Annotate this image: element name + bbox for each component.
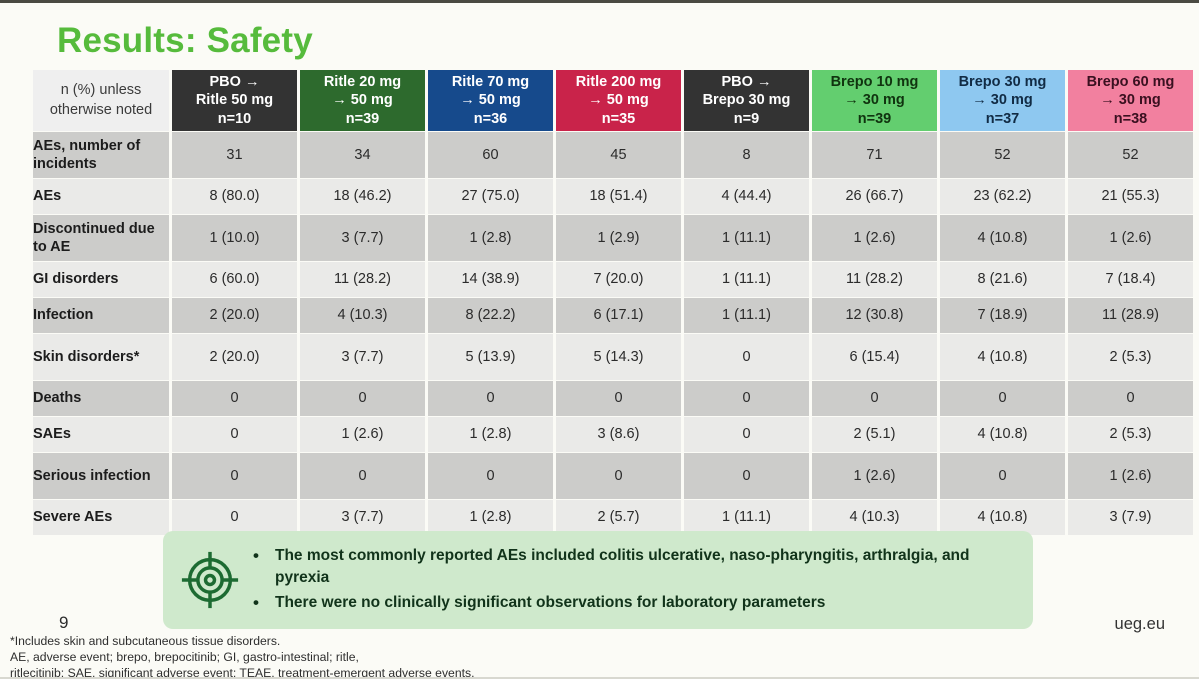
- table-cell: 0: [172, 417, 297, 452]
- table-cell: 0: [684, 381, 809, 416]
- table-cell: 2 (20.0): [172, 298, 297, 333]
- table-cell: 0: [428, 453, 553, 499]
- table-cell: 7 (20.0): [556, 262, 681, 297]
- table-cell: 60: [428, 132, 553, 178]
- column-header-ritle-70: Ritle 70 mg → 50 mg n=36: [428, 70, 553, 131]
- table-cell: 5 (14.3): [556, 334, 681, 380]
- footnote-line-2: AE, adverse event; brepo, brepocitinib; …: [10, 649, 710, 665]
- table-cell: 52: [1068, 132, 1193, 178]
- table-cell: 1 (10.0): [172, 215, 297, 261]
- table-cell: 8: [684, 132, 809, 178]
- table-cell: 0: [812, 381, 937, 416]
- table-cell: 4 (10.8): [940, 334, 1065, 380]
- table-cell: 2 (5.7): [556, 500, 681, 535]
- row-label: SAEs: [33, 417, 169, 452]
- target-icon: [179, 549, 241, 611]
- table-cell: 0: [684, 334, 809, 380]
- table-cell: 3 (7.7): [300, 500, 425, 535]
- table-cell: 1 (11.1): [684, 262, 809, 297]
- table-cell: 0: [940, 381, 1065, 416]
- table-cell: 0: [172, 453, 297, 499]
- table-row: Discontinued due to AE1 (10.0)3 (7.7)1 (…: [33, 215, 1193, 261]
- column-header-line2: → 50 mg: [300, 91, 425, 110]
- column-header-line3: n=9: [684, 110, 809, 129]
- table-cell: 26 (66.7): [812, 179, 937, 214]
- table-cell: 4 (10.8): [940, 215, 1065, 261]
- table-row: Infection2 (20.0)4 (10.3)8 (22.2)6 (17.1…: [33, 298, 1193, 333]
- table-row: Skin disorders*2 (20.0)3 (7.7)5 (13.9)5 …: [33, 334, 1193, 380]
- list-item-text: The most commonly reported AEs included …: [275, 545, 1021, 589]
- table-cell: 5 (13.9): [428, 334, 553, 380]
- column-header-line2: → 30 mg: [940, 91, 1065, 110]
- table-header: n (%) unless otherwise noted PBO → Ritle…: [33, 70, 1193, 131]
- table-cell: 1 (2.6): [1068, 215, 1193, 261]
- table-cell: 1 (2.8): [428, 215, 553, 261]
- list-item: • The most commonly reported AEs include…: [253, 545, 1021, 589]
- row-label: Deaths: [33, 381, 169, 416]
- table-cell: 3 (7.7): [300, 334, 425, 380]
- table-cell: 52: [940, 132, 1065, 178]
- row-label: AEs, number of incidents: [33, 132, 169, 178]
- table-cell: 4 (10.3): [812, 500, 937, 535]
- column-header-line3: n=36: [428, 110, 553, 129]
- table-cell: 11 (28.2): [300, 262, 425, 297]
- table-cell: 2 (20.0): [172, 334, 297, 380]
- table-cell: 12 (30.8): [812, 298, 937, 333]
- column-header-brepo-60: Brepo 60 mg → 30 mg n=38: [1068, 70, 1193, 131]
- table-cell: 8 (21.6): [940, 262, 1065, 297]
- table-cell: 1 (11.1): [684, 500, 809, 535]
- table-cell: 2 (5.3): [1068, 417, 1193, 452]
- column-header-line1: Ritle 70 mg: [428, 73, 553, 92]
- table-cell: 0: [556, 453, 681, 499]
- row-label: Infection: [33, 298, 169, 333]
- table-row: Serious infection000001 (2.6)01 (2.6): [33, 453, 1193, 499]
- table-row: GI disorders6 (60.0)11 (28.2)14 (38.9)7 …: [33, 262, 1193, 297]
- table-cell: 0: [428, 381, 553, 416]
- table-row: AEs, number of incidents313460458715252: [33, 132, 1193, 178]
- table-cell: 4 (10.3): [300, 298, 425, 333]
- column-header-line3: n=39: [812, 110, 937, 129]
- key-takeaways-callout: • The most commonly reported AEs include…: [163, 531, 1033, 629]
- table-cell: 0: [172, 381, 297, 416]
- table-cell: 1 (2.6): [812, 453, 937, 499]
- table-cell: 0: [300, 381, 425, 416]
- row-label: Skin disorders*: [33, 334, 169, 380]
- column-header-line2: → 30 mg: [1068, 91, 1193, 110]
- table-cell: 0: [300, 453, 425, 499]
- table-cell: 6 (17.1): [556, 298, 681, 333]
- table-cell: 34: [300, 132, 425, 178]
- table-header-row: n (%) unless otherwise noted PBO → Ritle…: [33, 70, 1193, 131]
- column-header-brepo-30: Brepo 30 mg → 30 mg n=37: [940, 70, 1065, 131]
- table-cell: 1 (2.8): [428, 500, 553, 535]
- column-header-line3: n=35: [556, 110, 681, 129]
- table-cell: 3 (8.6): [556, 417, 681, 452]
- table-cell: 1 (2.9): [556, 215, 681, 261]
- bullet-marker: •: [253, 545, 275, 568]
- table-row: AEs8 (80.0)18 (46.2)27 (75.0)18 (51.4)4 …: [33, 179, 1193, 214]
- callout-bullet-list: • The most commonly reported AEs include…: [253, 542, 1021, 618]
- table-cell: 0: [556, 381, 681, 416]
- list-item-text: There were no clinically significant obs…: [275, 592, 1021, 614]
- table-cell: 18 (51.4): [556, 179, 681, 214]
- table-cell: 1 (2.8): [428, 417, 553, 452]
- column-header-line3: n=37: [940, 110, 1065, 129]
- column-header-line1: Ritle 200 mg: [556, 73, 681, 92]
- table-row: Severe AEs03 (7.7)1 (2.8)2 (5.7)1 (11.1)…: [33, 500, 1193, 535]
- table-cell: 0: [940, 453, 1065, 499]
- table-cell: 23 (62.2): [940, 179, 1065, 214]
- table-cell: 27 (75.0): [428, 179, 553, 214]
- row-label: GI disorders: [33, 262, 169, 297]
- table-cell: 31: [172, 132, 297, 178]
- table-cell: 1 (11.1): [684, 298, 809, 333]
- table-cell: 11 (28.2): [812, 262, 937, 297]
- table-cell: 8 (22.2): [428, 298, 553, 333]
- brand-label: ueg.eu: [1115, 615, 1165, 634]
- column-header-line1: PBO →: [684, 73, 809, 92]
- table-cell: 1 (2.6): [1068, 453, 1193, 499]
- row-label: Serious infection: [33, 453, 169, 499]
- footnote-line-3: ritlecitinib; SAE, significant adverse e…: [10, 665, 710, 679]
- column-header-line3: n=10: [172, 110, 297, 129]
- table-cell: 3 (7.7): [300, 215, 425, 261]
- table-cell: 0: [172, 500, 297, 535]
- row-label: Discontinued due to AE: [33, 215, 169, 261]
- table-cell: 7 (18.9): [940, 298, 1065, 333]
- table-cell: 4 (10.8): [940, 500, 1065, 535]
- column-header-line2: → 30 mg: [812, 91, 937, 110]
- column-header-line1: Ritle 20 mg: [300, 73, 425, 92]
- column-header-pbo-ritle: PBO → Ritle 50 mg n=10: [172, 70, 297, 131]
- table-cell: 18 (46.2): [300, 179, 425, 214]
- table-cell: 0: [1068, 381, 1193, 416]
- page-title: Results: Safety: [57, 21, 313, 61]
- column-header-line2: → 50 mg: [428, 91, 553, 110]
- corner-header: n (%) unless otherwise noted: [33, 70, 169, 131]
- table-cell: 1 (2.6): [300, 417, 425, 452]
- column-header-line1: Brepo 60 mg: [1068, 73, 1193, 92]
- table-cell: 4 (10.8): [940, 417, 1065, 452]
- column-header-ritle-20: Ritle 20 mg → 50 mg n=39: [300, 70, 425, 131]
- table-row: Deaths00000000: [33, 381, 1193, 416]
- row-label: AEs: [33, 179, 169, 214]
- column-header-pbo-brepo: PBO → Brepo 30 mg n=9: [684, 70, 809, 131]
- table-cell: 11 (28.9): [1068, 298, 1193, 333]
- table-cell: 6 (60.0): [172, 262, 297, 297]
- column-header-line1: PBO →: [172, 73, 297, 92]
- list-item: • There were no clinically significant o…: [253, 592, 1021, 615]
- table-cell: 8 (80.0): [172, 179, 297, 214]
- page-number: 9: [59, 613, 68, 633]
- table-cell: 45: [556, 132, 681, 178]
- bullet-marker: •: [253, 592, 275, 615]
- table-cell: 1 (11.1): [684, 215, 809, 261]
- table-cell: 2 (5.1): [812, 417, 937, 452]
- column-header-line2: Brepo 30 mg: [684, 91, 809, 110]
- column-header-brepo-10: Brepo 10 mg → 30 mg n=39: [812, 70, 937, 131]
- table-body: AEs, number of incidents313460458715252A…: [33, 132, 1193, 535]
- column-header-line3: n=39: [300, 110, 425, 129]
- table-cell: 14 (38.9): [428, 262, 553, 297]
- table-cell: 0: [684, 417, 809, 452]
- table-cell: 3 (7.9): [1068, 500, 1193, 535]
- column-header-line1: Brepo 30 mg: [940, 73, 1065, 92]
- column-header-ritle-200: Ritle 200 mg → 50 mg n=35: [556, 70, 681, 131]
- column-header-line3: n=38: [1068, 110, 1193, 129]
- table-cell: 1 (2.6): [812, 215, 937, 261]
- table-cell: 4 (44.4): [684, 179, 809, 214]
- slide-canvas: Results: Safety n (%) unless otherwise n…: [0, 0, 1199, 679]
- table-cell: 71: [812, 132, 937, 178]
- column-header-line1: Brepo 10 mg: [812, 73, 937, 92]
- footnotes: *Includes skin and subcutaneous tissue d…: [10, 633, 710, 679]
- column-header-line2: → 50 mg: [556, 91, 681, 110]
- table-cell: 7 (18.4): [1068, 262, 1193, 297]
- table-cell: 0: [684, 453, 809, 499]
- table-row: SAEs01 (2.6)1 (2.8)3 (8.6)02 (5.1)4 (10.…: [33, 417, 1193, 452]
- table-cell: 21 (55.3): [1068, 179, 1193, 214]
- footnote-line-1: *Includes skin and subcutaneous tissue d…: [10, 633, 710, 649]
- safety-results-table: n (%) unless otherwise noted PBO → Ritle…: [30, 69, 1196, 536]
- table-cell: 6 (15.4): [812, 334, 937, 380]
- row-label: Severe AEs: [33, 500, 169, 535]
- column-header-line2: Ritle 50 mg: [172, 91, 297, 110]
- table-cell: 2 (5.3): [1068, 334, 1193, 380]
